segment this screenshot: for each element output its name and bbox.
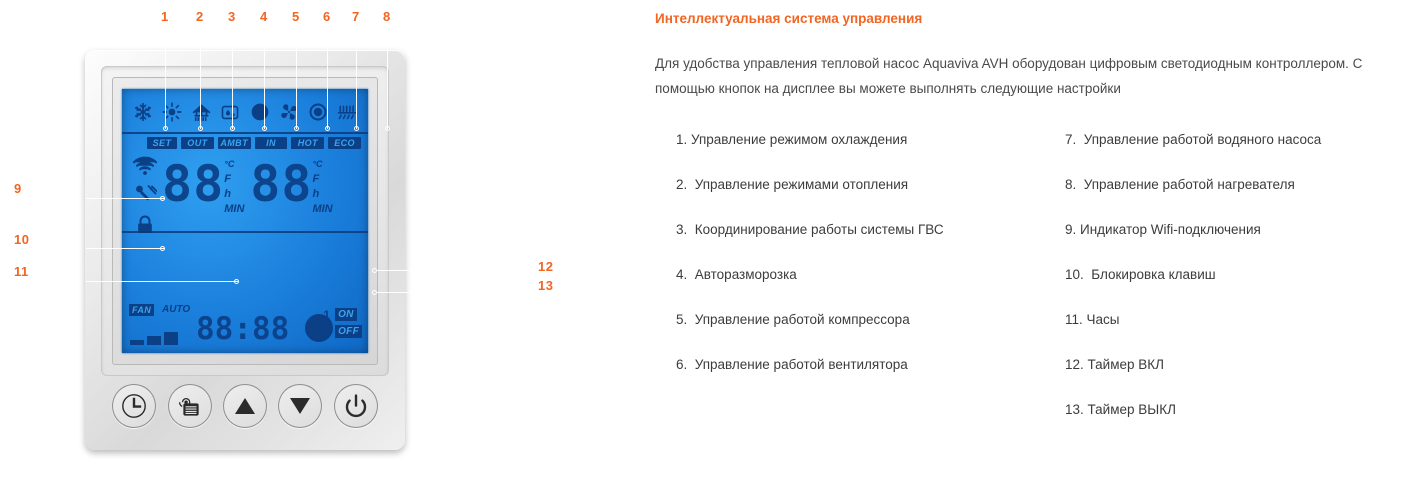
callout-13: 13 [538,279,553,292]
feature-item-12: 12. Таймер ВКЛ [1056,356,1418,374]
feature-item-8: 8. Управление работой нагревателя [1056,176,1418,194]
timer-row-2: 2 OFF [323,325,362,338]
callout-1: 1 [161,10,169,23]
lcd-display: SET OUT AMBT IN HOT ECO [122,89,368,353]
timer-row-1: 1 ON [323,308,362,321]
feature-item-3: 3. Координирование работы системы ГВС [676,221,1056,239]
unit-celsius-right: °C [312,159,322,169]
feature-item-4: 4. Авторазморозка [676,266,1056,284]
sun-icon [157,102,186,122]
down-button[interactable] [278,384,322,428]
lcd-tag-hot: HOT [291,137,324,149]
lcd-tag-set: SET [147,137,177,149]
unit-celsius-left: °C [224,159,234,169]
feature-item-2: 2. Управление режимами отопления [676,176,1056,194]
unit-min-right: MIN [312,203,332,215]
unit-fahrenheit-left: F [224,173,231,185]
panel-title: Интеллектуальная система управления [655,11,922,26]
lcd-tag-ambt: AMBT [218,137,251,149]
lcd-tag-out: OUT [181,137,214,149]
power-button[interactable] [334,384,378,428]
padlock-icon [135,215,155,240]
timer-1-number: 1 [323,309,330,321]
callout-12: 12 [538,260,553,273]
callout-8: 8 [383,10,391,23]
unit-fahrenheit-right: F [312,173,319,185]
lcd-tag-in: IN [255,137,288,149]
timer-1-state: ON [335,308,357,321]
panel-intro-text: Для удобства управления тепловой насос A… [655,51,1367,101]
clock-button[interactable] [112,384,156,428]
fan-speed-bars-icon [130,332,178,345]
up-button[interactable] [223,384,267,428]
water-pump-icon [304,102,333,122]
timer-2-number: 2 [323,326,330,338]
feature-item-5: 5. Управление работой компрессора [676,311,1056,329]
feature-list: 1. Управление режимом охлаждения 2. Упра… [676,131,1418,446]
callout-9: 9 [14,182,22,195]
heater-coil-icon [333,103,362,121]
water-box-icon [216,103,245,122]
thermostat-controller: SET OUT AMBT IN HOT ECO [85,50,405,450]
callout-5: 5 [292,10,300,23]
lcd-status-icons [128,153,162,240]
fan-blades-icon [274,102,303,122]
unit-hour-left: h [224,188,231,200]
lcd-left-units: °C F h MIN [224,153,250,217]
snowflake-icon [128,102,157,122]
lcd-tag-row: SET OUT AMBT IN HOT ECO [122,135,368,151]
button-row [85,378,405,434]
lcd-right-value: 88 [250,153,312,215]
info-panel: Интеллектуальная система управления Для … [655,0,1418,496]
unit-min-left: MIN [224,203,244,215]
lcd-main-readout: 88 °C F h MIN 88 °C F h MIN [122,153,368,229]
timer-2-state: OFF [335,325,362,338]
callout-6: 6 [323,10,331,23]
feature-item-6: 6. Управление работой вентилятора [676,356,1056,374]
feature-item-10: 10. Блокировка клавиш [1056,266,1418,284]
defrost-house-icon [187,102,216,122]
lcd-fan-tag: FAN [129,304,154,316]
callout-4: 4 [260,10,268,23]
display-bezel-outer: SET OUT AMBT IN HOT ECO [101,66,389,376]
feature-item-1: 1. Управление режимом охлаждения [676,131,1056,149]
feature-item-7: 7. Управление работой водяного насоса [1056,131,1418,149]
lcd-tag-eco: ECO [328,137,361,149]
callout-3: 3 [228,10,236,23]
page-root: 1 2 3 4 5 6 7 8 9 10 11 12 13 [0,0,1418,496]
feature-item-11: 11. Часы [1056,311,1418,329]
lcd-right-units: °C F h MIN [312,153,338,217]
display-bezel-inner: SET OUT AMBT IN HOT ECO [112,77,378,365]
lcd-auto-tag: AUTO [162,304,190,315]
lcd-timer-indicators: 1 ON 2 OFF [323,308,362,342]
wifi-icon [132,156,158,180]
unit-hour-right: h [312,188,319,200]
feature-item-13: 13. Таймер ВЫКЛ [1056,401,1418,419]
lcd-bottom-row: FAN AUTO 88:88 [122,301,368,353]
callout-11: 11 [14,265,29,278]
lcd-mode-icon-row [122,89,368,131]
feature-item-9: 9. Индикатор Wifi-подключения [1056,221,1418,239]
callout-2: 2 [196,10,204,23]
callout-7: 7 [352,10,360,23]
lcd-left-value: 88 [162,153,224,215]
lcd-clock-value: 88:88 [196,311,289,347]
callout-10: 10 [14,233,29,246]
menu-button[interactable] [168,384,212,428]
compressor-icon [245,102,274,122]
